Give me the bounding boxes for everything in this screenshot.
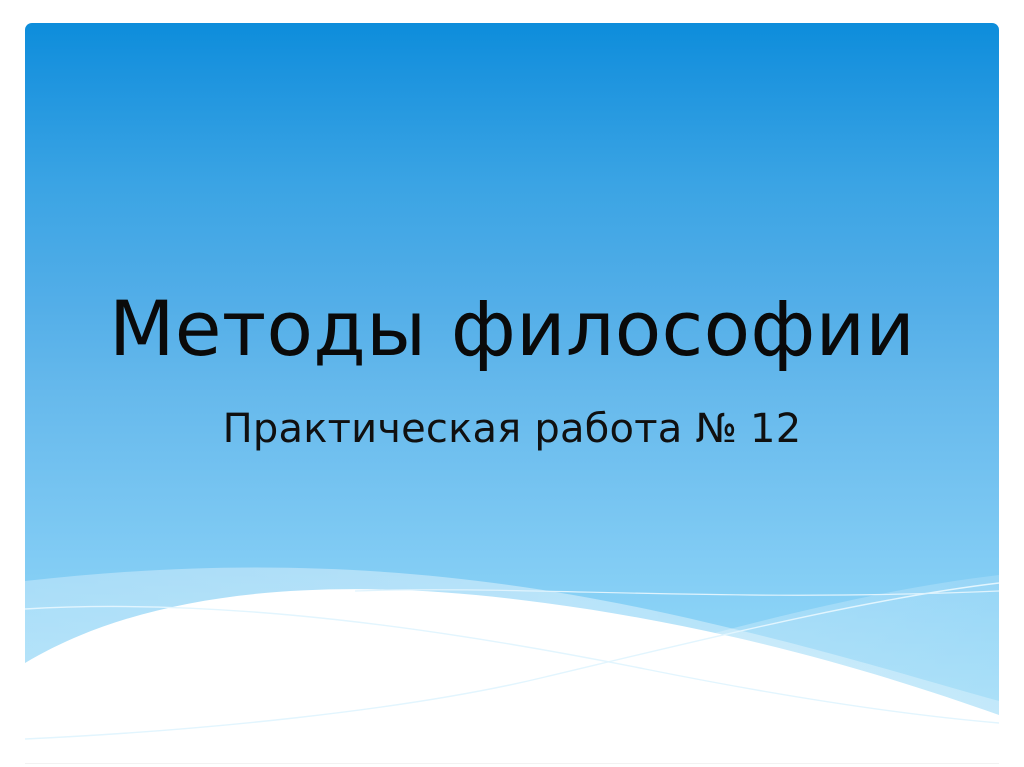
page-bottom-rule: [25, 763, 999, 764]
presentation-slide[interactable]: Методы философии Практическая работа № 1…: [25, 23, 999, 763]
slide-subtitle[interactable]: Практическая работа № 12: [25, 406, 999, 452]
slide-viewport: Методы философии Практическая работа № 1…: [0, 0, 1024, 767]
waveform-decoration: [25, 463, 999, 763]
slide-title[interactable]: Методы философии: [25, 288, 999, 370]
